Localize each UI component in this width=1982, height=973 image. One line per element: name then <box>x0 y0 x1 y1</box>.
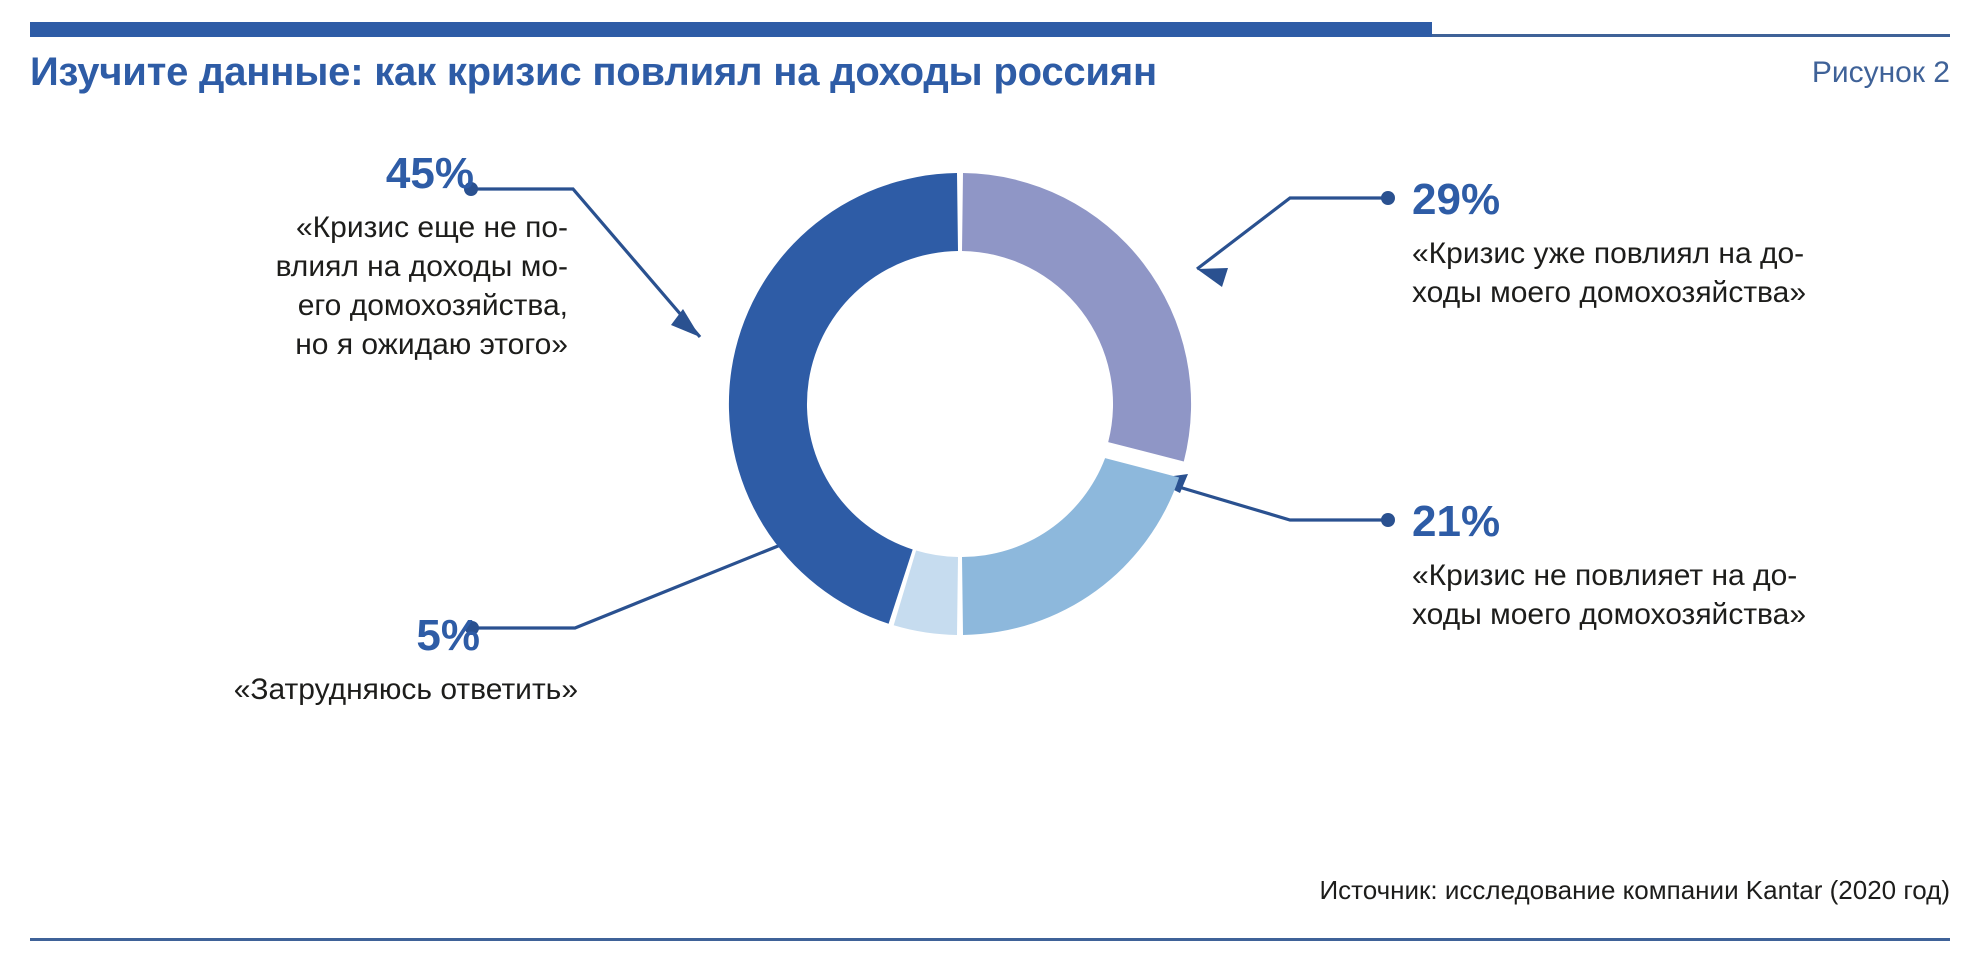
header-rule-thick <box>30 22 1432 37</box>
callout-21-label: «Кризис не повлияет на до- ходы моего до… <box>1400 556 1960 634</box>
callout-45-percent: 45% <box>120 152 570 196</box>
donut-slice-21[interactable] <box>962 458 1179 635</box>
source-note: Источник: исследование компании Kantar (… <box>1319 875 1950 906</box>
callout-29-label: «Кризис уже повлиял на до- ходы моего до… <box>1400 234 1960 312</box>
donut-chart: 45% «Кризис еще не по- влиял на доходы м… <box>0 104 1982 894</box>
callout-45-label: «Кризис еще не по- влиял на доходы мо- е… <box>120 208 570 364</box>
page-title: Изучите данные: как кризис повлиял на до… <box>30 50 1157 95</box>
callout-5-percent: 5% <box>60 614 580 658</box>
callout-29-percent: 29% <box>1400 178 1960 222</box>
callout-5-label: «Затрудняюсь ответить» <box>60 670 580 709</box>
figure-label: Рисунок 2 <box>1812 56 1950 90</box>
callout-5: 5% «Затрудняюсь ответить» <box>60 614 580 709</box>
callout-45: 45% «Кризис еще не по- влиял на доходы м… <box>120 152 570 364</box>
footer-rule <box>30 938 1950 941</box>
callout-21: 21% «Кризис не повлияет на до- ходы моег… <box>1400 500 1960 634</box>
donut-slice-29[interactable] <box>962 173 1191 462</box>
donut-graphic <box>700 144 1220 664</box>
callout-21-percent: 21% <box>1400 500 1960 544</box>
callout-29: 29% «Кризис уже повлиял на до- ходы моег… <box>1400 178 1960 312</box>
